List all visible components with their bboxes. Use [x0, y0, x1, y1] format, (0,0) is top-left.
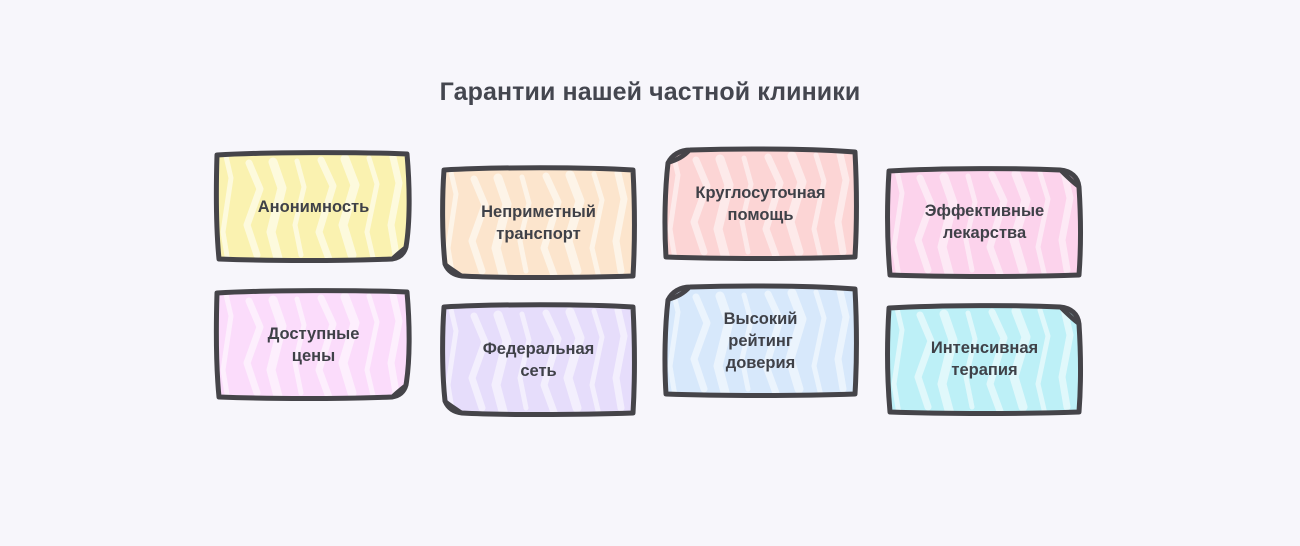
guarantee-card-label: Интенсивная терапия [882, 300, 1087, 418]
guarantee-card-effective-medicines[interactable]: Эффективные лекарства [882, 163, 1087, 281]
guarantee-card-affordable-prices[interactable]: Доступные цены [211, 286, 416, 404]
guarantee-card-federal-network[interactable]: Федеральная сеть [436, 301, 641, 419]
page-title: Гарантии нашей частной клиники [0, 78, 1300, 107]
guarantee-card-anonymity[interactable]: Анонимность [211, 148, 416, 266]
guarantee-card-label: Круглосуточная помощь [658, 145, 863, 263]
guarantee-card-round-the-clock-help[interactable]: Круглосуточная помощь [658, 145, 863, 263]
guarantee-card-label: Неприметный транспорт [436, 164, 641, 282]
guarantee-card-label: Доступные цены [211, 286, 416, 404]
guarantee-card-high-trust-rating[interactable]: Высокий рейтинг доверия [658, 282, 863, 400]
guarantees-card-grid: АнонимностьНеприметный транспортКруглосу… [205, 140, 1095, 430]
guarantee-card-label: Федеральная сеть [436, 301, 641, 419]
guarantee-card-label: Высокий рейтинг доверия [658, 282, 863, 400]
guarantee-card-label: Анонимность [211, 148, 416, 266]
guarantee-card-label: Эффективные лекарства [882, 163, 1087, 281]
guarantee-card-discreet-transport[interactable]: Неприметный транспорт [436, 164, 641, 282]
guarantee-card-intensive-therapy[interactable]: Интенсивная терапия [882, 300, 1087, 418]
